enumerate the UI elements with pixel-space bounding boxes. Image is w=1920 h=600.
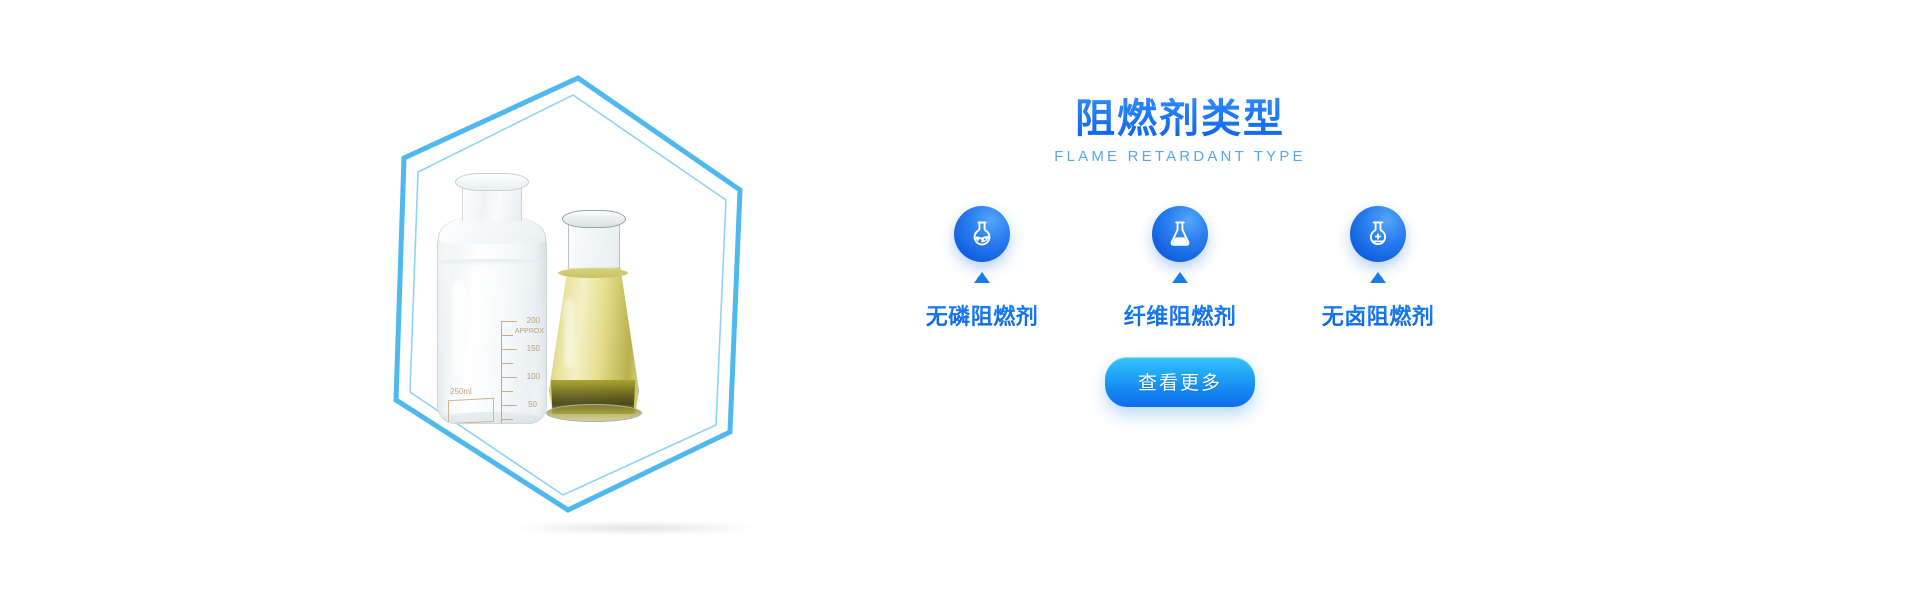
view-more-button[interactable]: 查看更多 — [1105, 357, 1255, 407]
round-flask-bubbles-icon[interactable] — [954, 206, 1010, 262]
page-title: 阻燃剂类型 — [860, 96, 1500, 142]
flask-lip — [562, 210, 626, 228]
banner-stage: 200 APPROX 150 100 50 250ml — [0, 0, 1920, 600]
bottle-liquid-surface — [438, 259, 546, 266]
erlenmeyer-flask-icon[interactable] — [1152, 206, 1208, 262]
pointer-triangle-icon — [1370, 272, 1386, 283]
bottle-volume-label: 250ml — [450, 387, 472, 396]
reagent-bottle: 200 APPROX 150 100 50 250ml — [434, 178, 552, 428]
type-label: 无磷阻燃剂 — [926, 299, 1039, 331]
erlenmeyer-flask-photo — [544, 210, 644, 428]
bottle-highlight — [452, 281, 465, 377]
flask-plus-icon[interactable] — [1350, 206, 1406, 262]
type-label: 无卤阻燃剂 — [1322, 299, 1435, 331]
bottle-label-box — [448, 398, 494, 424]
heading-block: 阻燃剂类型 FLAME RETARDANT TYPE — [860, 96, 1500, 165]
page-subtitle: FLAME RETARDANT TYPE — [860, 148, 1500, 165]
graduation-label-150: 150 — [527, 344, 540, 353]
graduation-label-100: 100 — [527, 372, 540, 381]
pointer-triangle-icon — [1172, 272, 1188, 283]
graduation-label-approx: APPROX — [515, 328, 544, 335]
flask-base — [546, 404, 642, 422]
type-item-xian-wei[interactable]: 纤维阻燃剂 — [1105, 206, 1255, 331]
cta-container: 查看更多 — [860, 357, 1500, 407]
type-label: 纤维阻燃剂 — [1124, 299, 1237, 331]
glassware-shadow — [510, 520, 760, 536]
type-item-wu-lu[interactable]: 无卤阻燃剂 — [1303, 206, 1453, 331]
bottle-graduation-scale — [501, 321, 516, 424]
product-visual: 200 APPROX 150 100 50 250ml — [330, 40, 750, 540]
graduation-label-200: 200 — [527, 316, 540, 325]
bottle-body: 200 APPROX 150 100 50 250ml — [437, 236, 547, 424]
pointer-triangle-icon — [974, 272, 990, 283]
type-list: 无磷阻燃剂 纤维阻燃剂 — [860, 206, 1500, 331]
type-item-wu-lin[interactable]: 无磷阻燃剂 — [907, 206, 1057, 331]
graduation-label-50: 50 — [528, 400, 537, 409]
flask-highlight — [564, 298, 574, 368]
content-panel: 阻燃剂类型 FLAME RETARDANT TYPE 无磷阻燃剂 — [860, 0, 1500, 600]
flask-liquid-surface — [558, 268, 628, 278]
bottle-lip — [455, 173, 529, 191]
glassware-photo: 200 APPROX 150 100 50 250ml — [426, 148, 656, 428]
